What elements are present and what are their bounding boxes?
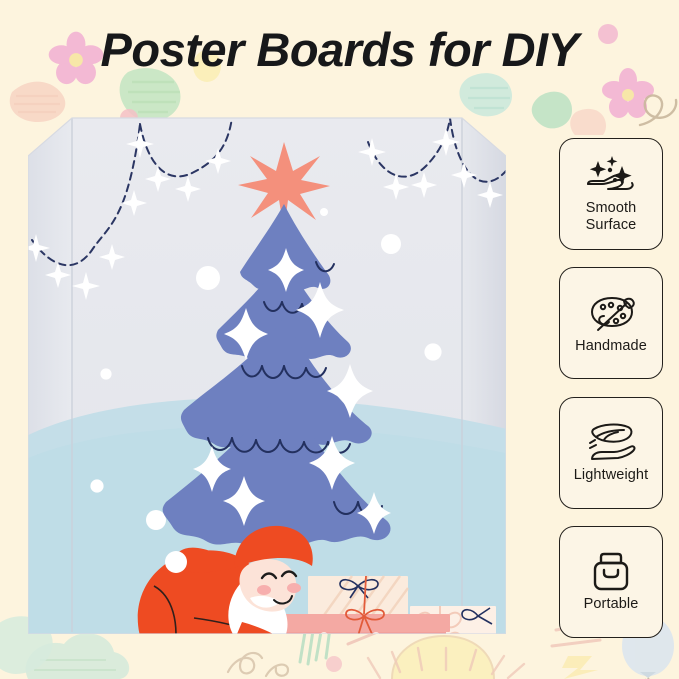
feature-card-smooth-surface[interactable]: SmoothSurface [559, 138, 663, 250]
spiral-doodle [640, 95, 676, 125]
squiggle-doodle [228, 653, 288, 676]
page-title: Poster Boards for DIY [0, 22, 679, 78]
feature-card-handmade[interactable]: Handmade [559, 267, 663, 379]
feature-card-lightweight[interactable]: Lightweight [559, 397, 663, 509]
hat-pompom [165, 551, 187, 573]
trifold-poster-board [28, 116, 506, 634]
lightning-doodle [562, 656, 598, 679]
feature-card-portable[interactable]: Portable [559, 526, 663, 638]
briefcase-icon [582, 550, 640, 594]
feature-label-handmade: Handmade [575, 338, 647, 355]
feature-card-list: SmoothSurface Handmade [559, 138, 667, 638]
paint-palette-icon [582, 292, 640, 336]
mint-tree-doodle [26, 633, 130, 679]
feature-label-portable: Portable [584, 596, 639, 613]
feature-label-smooth-surface: SmoothSurface [586, 200, 637, 234]
sun-doodle [368, 636, 524, 679]
pink-scribble-doodle-2 [570, 109, 606, 135]
teal-scribble-doodle [459, 73, 512, 116]
green-scribble-doodle-right [532, 92, 572, 129]
feather-hand-icon [582, 421, 640, 465]
product-marketing-image: Poster Boards for DIY [0, 0, 679, 679]
dot-doodle-bottom [326, 656, 342, 672]
sparkle-hand-icon [582, 154, 640, 198]
feature-label-lightweight: Lightweight [574, 467, 648, 484]
